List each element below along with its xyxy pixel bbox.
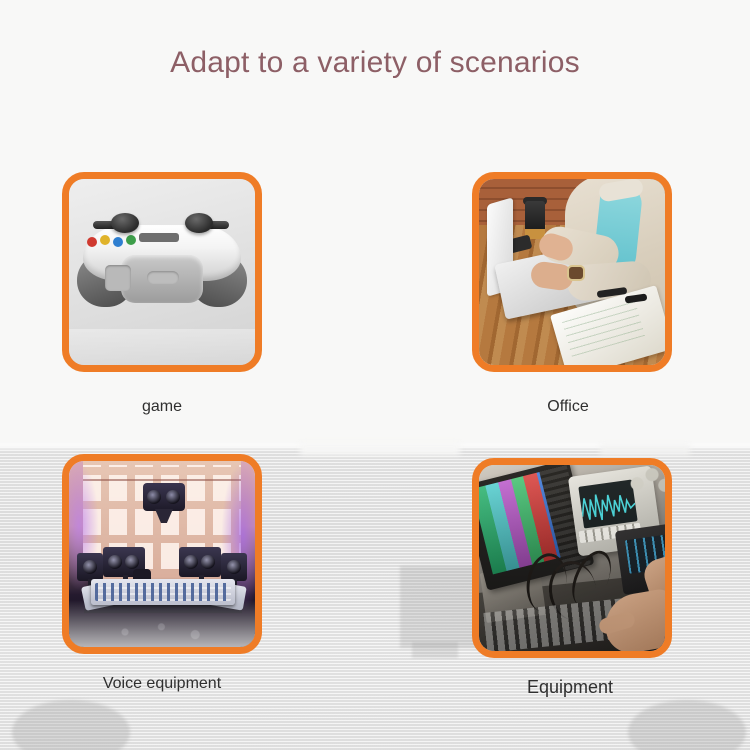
panel-hanging-rail: [83, 479, 241, 481]
studio-image: [69, 461, 255, 647]
console-faders-and-knobs: [95, 583, 231, 601]
game-scene: [69, 179, 255, 365]
equipment-scene: [479, 465, 665, 651]
studio-monitor-far-right: [221, 553, 247, 581]
controller-center-oval: [147, 271, 179, 284]
scenario-label-voice-equipment: Voice equipment: [32, 675, 292, 693]
controller-stick-left: [111, 213, 139, 233]
scenario-card-equipment[interactable]: [472, 458, 672, 658]
equipment-color-grade: [479, 465, 665, 651]
equipment-image: [479, 465, 665, 651]
scenario-label-game: game: [32, 398, 292, 416]
studio-scene: [69, 461, 255, 647]
scenario-label-office: Office: [438, 398, 698, 416]
studio-monitor-far-left: [77, 553, 103, 581]
page-title: Adapt to a variety of scenarios: [0, 46, 750, 80]
controller-face-buttons: [87, 235, 141, 247]
ghost-device-shape: [400, 566, 478, 648]
scenario-card-office[interactable]: [472, 172, 672, 372]
office-scene: [479, 179, 665, 365]
center-speaker: [143, 483, 185, 511]
backdrop-edge-highlight-right: [600, 445, 690, 455]
wristwatch: [567, 265, 585, 281]
controller-stick-right: [185, 213, 213, 233]
controller-dpad: [105, 265, 131, 291]
studio-monitor-right: [179, 547, 221, 577]
game-controller-image: [69, 179, 255, 365]
studio-floor: [99, 619, 229, 645]
backdrop-edge-highlight-left: [300, 443, 460, 455]
product-feature-page: Adapt to a variety of scenarios: [0, 0, 750, 750]
controller-battery-bar: [139, 233, 179, 242]
scenario-card-game[interactable]: [62, 172, 262, 372]
office-image: [479, 179, 665, 365]
scenario-card-voice-equipment[interactable]: [62, 454, 262, 654]
controller-group: [77, 213, 247, 343]
scenario-label-equipment: Equipment: [440, 677, 700, 698]
controller-reflection: [77, 343, 247, 365]
